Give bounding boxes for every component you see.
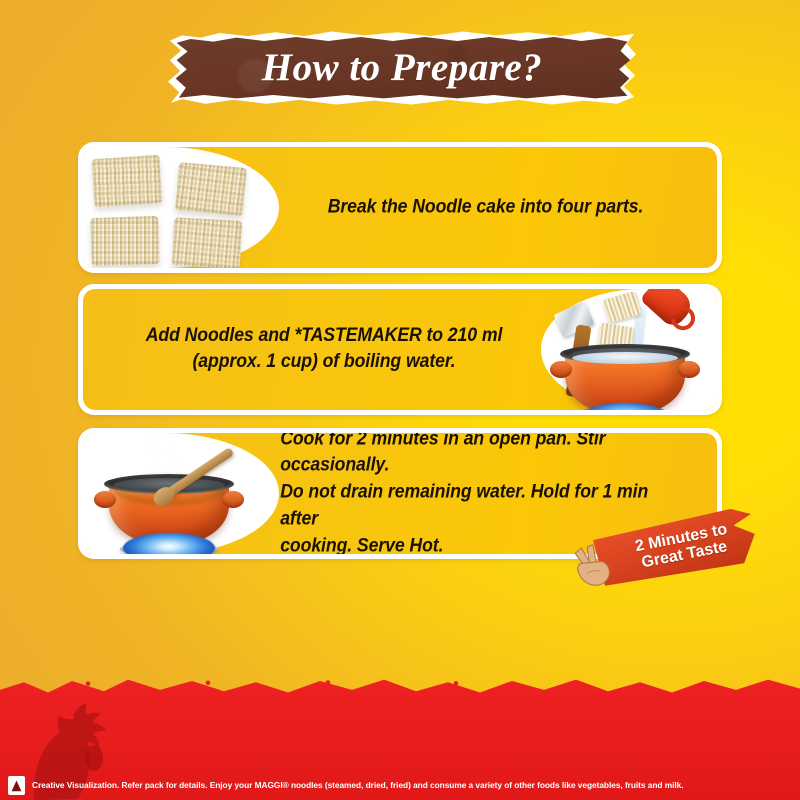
nestle-triangle-logo-icon xyxy=(8,776,25,795)
noodle-cake-piece xyxy=(90,216,160,266)
step-card-2-inner: Add Noodles and *TASTEMAKER to 210 ml (a… xyxy=(83,289,717,410)
noodle-cake-grid xyxy=(91,155,251,268)
cooking-pot xyxy=(565,351,685,410)
noodle-cake-piece xyxy=(91,155,162,208)
noodle-cake-piece xyxy=(175,162,247,216)
step-card-1-inner: Break the Noodle cake into four parts. xyxy=(83,147,717,268)
footer-disclaimer-bar: Creative Visualization. Refer pack for d… xyxy=(0,770,800,800)
steam-wisp xyxy=(149,433,159,475)
pot-boiling-water-image xyxy=(541,289,717,410)
pot-handle-left xyxy=(550,361,572,378)
cooked-pot-scene xyxy=(83,433,279,554)
disclaimer-text: Creative Visualization. Refer pack for d… xyxy=(32,780,683,790)
page-title: How to Prepare? xyxy=(168,30,636,106)
step-card-2: Add Noodles and *TASTEMAKER to 210 ml (a… xyxy=(78,284,722,415)
pot-handle-right xyxy=(222,491,244,508)
how-to-prepare-poster: How to Prepare? Break the Noodle cake in… xyxy=(0,0,800,800)
pot-handle-left xyxy=(94,491,116,508)
measuring-cup-icon xyxy=(640,289,697,330)
title-banner: How to Prepare? xyxy=(168,30,636,106)
cooked-noodles-pot-image xyxy=(83,433,279,554)
step-card-1: Break the Noodle cake into four parts. xyxy=(78,142,722,273)
steam-wisp xyxy=(167,435,177,469)
step-2-text: Add Noodles and *TASTEMAKER to 210 ml (a… xyxy=(126,323,522,377)
noodle-cake-piece xyxy=(172,217,242,268)
pot-handle-right xyxy=(678,361,700,378)
step-1-text: Break the Noodle cake into four parts. xyxy=(293,194,679,221)
boiling-water xyxy=(572,352,678,364)
noodle-cake-quarters-image xyxy=(83,147,279,268)
boiling-pot-scene xyxy=(541,289,717,410)
